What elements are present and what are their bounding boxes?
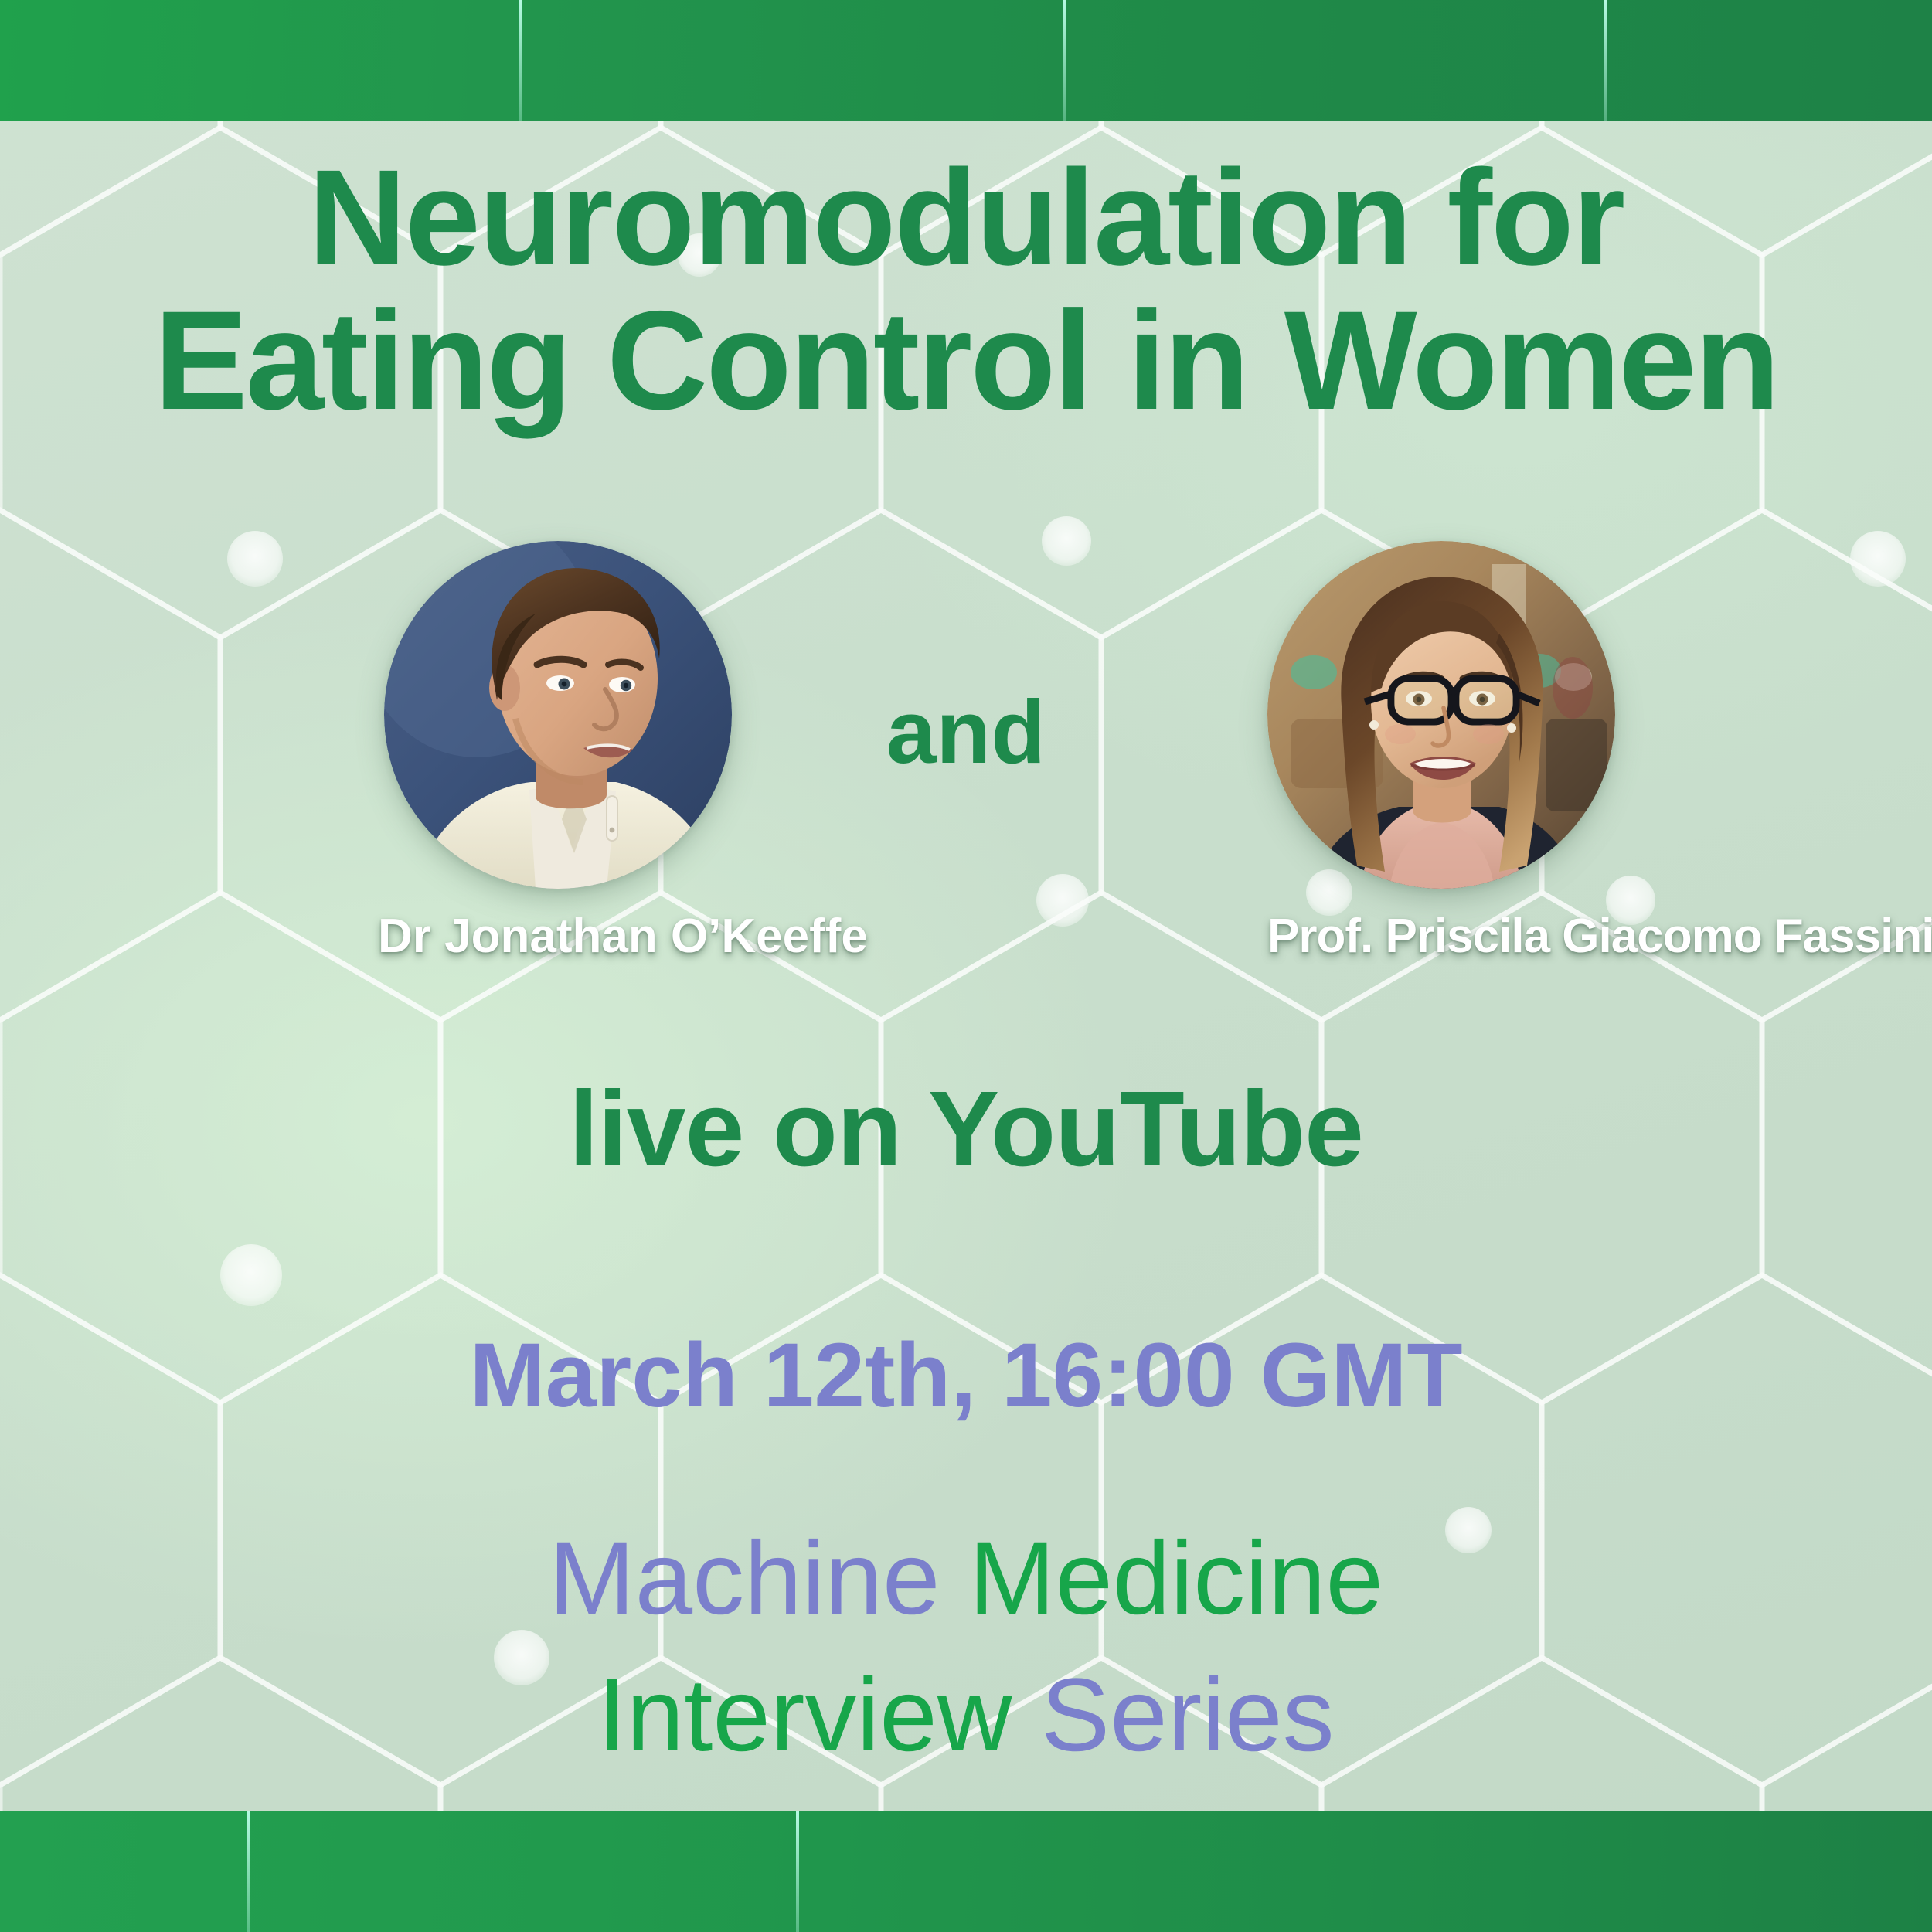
conjunction-and: and — [0, 680, 1932, 784]
brand-line-2: Interview Series — [0, 1648, 1932, 1784]
top-brand-bar — [0, 0, 1932, 121]
bar-divider-line — [796, 1811, 799, 1932]
bar-divider-line — [519, 0, 522, 121]
speaker-name-right: Prof. Priscila Giacomo Fassini — [1267, 909, 1631, 964]
bottom-brand-bar — [0, 1811, 1932, 1932]
bar-divider-line — [1604, 0, 1607, 121]
datetime-label: March 12th, 16:00 GMT — [0, 1323, 1932, 1428]
brand-word-medicine: Medicine — [969, 1521, 1383, 1636]
poster-title: Neuromodulation for Eating Control in Wo… — [0, 148, 1932, 434]
brand-line-1: Machine Medicine — [0, 1511, 1932, 1648]
speaker-name-left: Dr Jonathan O’Keeffe — [378, 909, 747, 964]
brand-word-series: Series — [1041, 1658, 1335, 1773]
brand-block: Machine Medicine Interview Series — [0, 1511, 1932, 1784]
brand-word-machine: Machine — [549, 1521, 940, 1636]
promo-poster: Neuromodulation for Eating Control in Wo… — [0, 0, 1932, 1932]
title-line-2: Eating Control in Women — [0, 288, 1932, 433]
bar-divider-line — [1063, 0, 1066, 121]
title-line-1: Neuromodulation for — [308, 142, 1624, 294]
brand-word-interview: Interview — [597, 1658, 1012, 1773]
bar-divider-line — [247, 1811, 250, 1932]
platform-label: live on YouTube — [0, 1068, 1932, 1191]
